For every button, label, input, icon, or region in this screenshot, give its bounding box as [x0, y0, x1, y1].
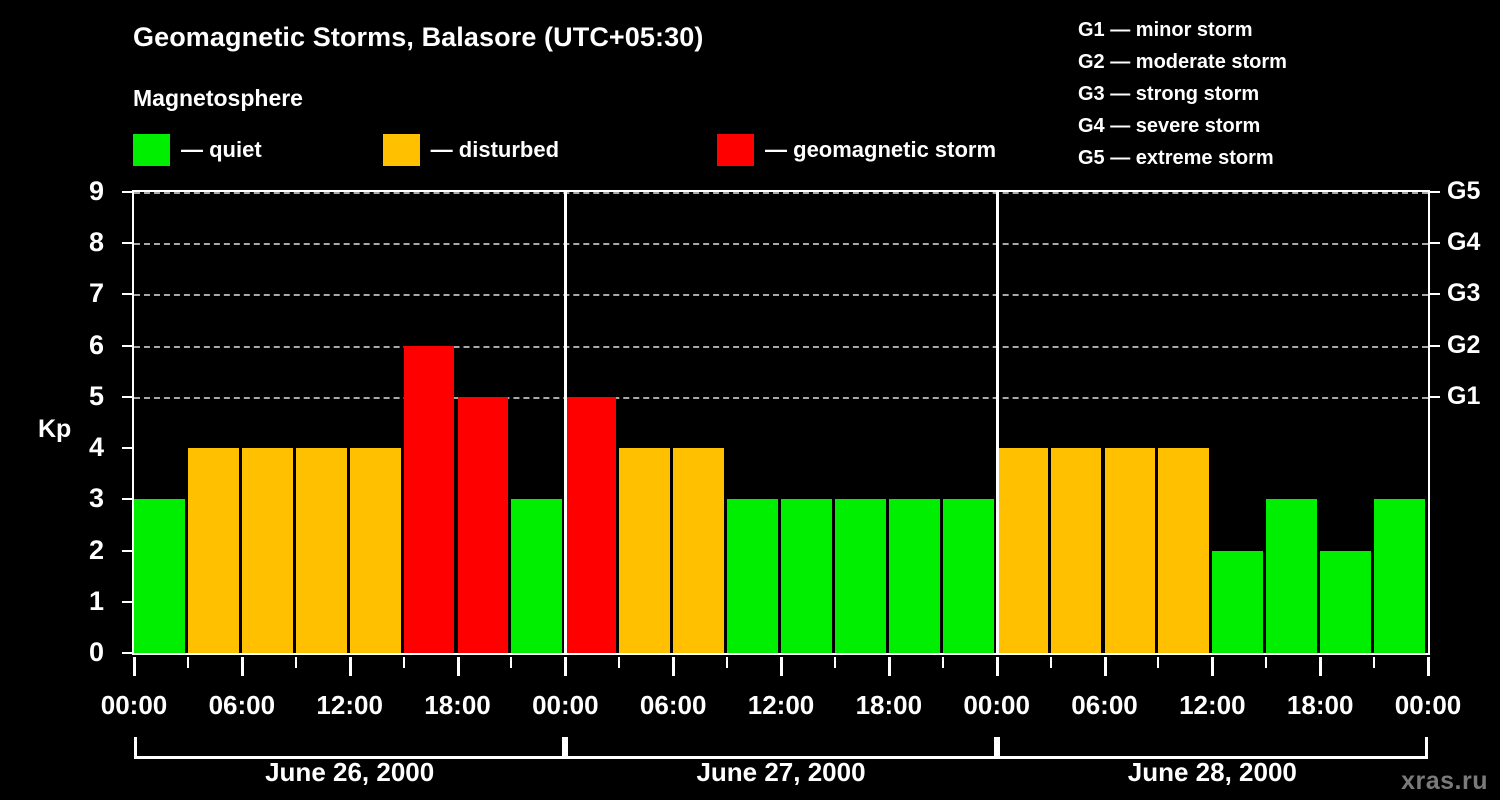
- bar-day2-slot7: [889, 499, 940, 653]
- x-tick-major-12: [780, 657, 783, 676]
- g-legend-row-2: G2 — moderate storm: [1078, 46, 1287, 78]
- y-tick-mark-9: [122, 191, 134, 193]
- y-tick-label-3: 3: [64, 485, 104, 512]
- x-tick-minor-19: [1157, 657, 1159, 668]
- x-tick-label-11: 18:00: [1287, 690, 1354, 721]
- watermark: xras.ru: [1401, 767, 1488, 796]
- y-tick-mark-0: [122, 652, 134, 654]
- bar-day1-slot3: [242, 448, 293, 653]
- y-axis-title: Kp: [38, 415, 71, 444]
- g-tick-label-G1: G1: [1447, 384, 1480, 409]
- y-tick-mark-4: [122, 447, 134, 449]
- y-tick-label-7: 7: [64, 280, 104, 307]
- geomagnetic-storm-legend-swatch: [717, 134, 754, 166]
- y-tick-label-2: 2: [64, 537, 104, 564]
- bar-day1-slot6: [404, 346, 455, 653]
- y-tick-mark-8: [122, 242, 134, 244]
- bar-day3-slot3: [1105, 448, 1156, 653]
- x-tick-major-10: [672, 657, 675, 676]
- x-tick-major-8: [564, 657, 567, 676]
- g-scale-legend: G1 — minor stormG2 — moderate stormG3 — …: [1078, 14, 1287, 174]
- day-label-3: June 28, 2000: [1128, 757, 1297, 788]
- x-tick-minor-9: [618, 657, 620, 668]
- g-tick-mark-G4: [1428, 242, 1440, 244]
- bar-day1-slot1: [134, 499, 185, 653]
- y-tick-label-5: 5: [64, 383, 104, 410]
- bar-day3-slot5: [1212, 551, 1263, 653]
- x-tick-minor-23: [1373, 657, 1375, 668]
- x-tick-minor-1: [187, 657, 189, 668]
- bar-day2-slot3: [673, 448, 724, 653]
- x-tick-major-20: [1211, 657, 1214, 676]
- x-tick-label-0: 00:00: [101, 690, 168, 721]
- disturbed-legend: — disturbed: [383, 133, 559, 167]
- disturbed-legend-label: — disturbed: [431, 137, 559, 163]
- x-tick-label-5: 06:00: [640, 690, 707, 721]
- x-tick-minor-15: [942, 657, 944, 668]
- x-tick-major-24: [1427, 657, 1430, 676]
- bar-day3-slot8: [1374, 499, 1425, 653]
- x-tick-major-16: [996, 657, 999, 676]
- x-tick-label-12: 00:00: [1395, 690, 1462, 721]
- y-tick-mark-6: [122, 345, 134, 347]
- x-tick-major-0: [133, 657, 136, 676]
- g-tick-label-G4: G4: [1447, 230, 1480, 255]
- day-bracket-2: [565, 737, 996, 759]
- g-legend-row-5: G5 — extreme storm: [1078, 142, 1287, 174]
- chart-plot-area: [132, 190, 1430, 655]
- magnetosphere-subtitle: Magnetosphere: [133, 85, 303, 112]
- g-tick-label-G5: G5: [1447, 179, 1480, 204]
- y-tick-label-1: 1: [64, 588, 104, 615]
- x-tick-label-1: 06:00: [209, 690, 276, 721]
- g-tick-mark-G5: [1428, 191, 1440, 193]
- color-legend: — quiet— disturbed— geomagnetic storm: [133, 133, 996, 167]
- x-tick-label-2: 12:00: [316, 690, 383, 721]
- g-tick-mark-G2: [1428, 345, 1440, 347]
- quiet-legend: — quiet: [133, 133, 262, 167]
- y-tick-label-9: 9: [64, 178, 104, 205]
- day-label-1: June 26, 2000: [265, 757, 434, 788]
- x-tick-major-6: [457, 657, 460, 676]
- bar-day3-slot7: [1320, 551, 1371, 653]
- g-legend-row-4: G4 — severe storm: [1078, 110, 1287, 142]
- bar-day3-slot1: [997, 448, 1048, 653]
- x-tick-minor-17: [1050, 657, 1052, 668]
- x-tick-label-10: 12:00: [1179, 690, 1246, 721]
- x-tick-label-4: 00:00: [532, 690, 599, 721]
- x-tick-minor-3: [295, 657, 297, 668]
- bar-day3-slot6: [1266, 499, 1317, 653]
- y-tick-label-0: 0: [64, 639, 104, 666]
- geomagnetic-storm-legend-label: — geomagnetic storm: [765, 137, 996, 163]
- bar-day2-slot8: [943, 499, 994, 653]
- day-bracket-1: [134, 737, 565, 759]
- y-tick-label-6: 6: [64, 332, 104, 359]
- g-tick-mark-G1: [1428, 396, 1440, 398]
- bar-day1-slot8: [511, 499, 562, 653]
- day-divider-1: [564, 192, 567, 653]
- y-tick-mark-7: [122, 293, 134, 295]
- x-tick-label-6: 12:00: [748, 690, 815, 721]
- bar-day1-slot4: [296, 448, 347, 653]
- bar-day1-slot5: [350, 448, 401, 653]
- x-tick-minor-7: [510, 657, 512, 668]
- bar-day3-slot4: [1158, 448, 1209, 653]
- bar-day2-slot5: [781, 499, 832, 653]
- bar-day1-slot2: [188, 448, 239, 653]
- bar-day2-slot1: [565, 397, 616, 653]
- y-tick-mark-2: [122, 550, 134, 552]
- x-tick-label-3: 18:00: [424, 690, 491, 721]
- bar-day2-slot4: [727, 499, 778, 653]
- x-tick-major-14: [888, 657, 891, 676]
- x-tick-major-4: [349, 657, 352, 676]
- g-legend-row-1: G1 — minor storm: [1078, 14, 1287, 46]
- y-tick-label-8: 8: [64, 229, 104, 256]
- x-tick-major-22: [1319, 657, 1322, 676]
- day-label-2: June 27, 2000: [696, 757, 865, 788]
- bar-day1-slot7: [458, 397, 509, 653]
- page-title: Geomagnetic Storms, Balasore (UTC+05:30): [133, 22, 703, 53]
- bar-day2-slot2: [619, 448, 670, 653]
- bar-day3-slot2: [1051, 448, 1102, 653]
- quiet-legend-label: — quiet: [181, 137, 262, 163]
- x-tick-label-8: 00:00: [963, 690, 1030, 721]
- x-tick-major-2: [241, 657, 244, 676]
- x-tick-minor-11: [726, 657, 728, 668]
- day-bracket-3: [997, 737, 1428, 759]
- bar-day2-slot6: [835, 499, 886, 653]
- g-legend-row-3: G3 — strong storm: [1078, 78, 1287, 110]
- x-tick-major-18: [1104, 657, 1107, 676]
- y-tick-mark-5: [122, 396, 134, 398]
- g-tick-label-G3: G3: [1447, 281, 1480, 306]
- quiet-legend-swatch: [133, 134, 170, 166]
- y-tick-mark-1: [122, 601, 134, 603]
- day-divider-2: [996, 192, 999, 653]
- disturbed-legend-swatch: [383, 134, 420, 166]
- x-tick-label-7: 18:00: [856, 690, 923, 721]
- x-tick-minor-5: [403, 657, 405, 668]
- x-tick-label-9: 06:00: [1071, 690, 1138, 721]
- geomagnetic-storm-legend: — geomagnetic storm: [717, 133, 996, 167]
- x-tick-minor-13: [834, 657, 836, 668]
- g-tick-label-G2: G2: [1447, 333, 1480, 358]
- g-tick-mark-G3: [1428, 293, 1440, 295]
- bars-layer: [134, 192, 1428, 653]
- y-tick-mark-3: [122, 498, 134, 500]
- x-tick-minor-21: [1265, 657, 1267, 668]
